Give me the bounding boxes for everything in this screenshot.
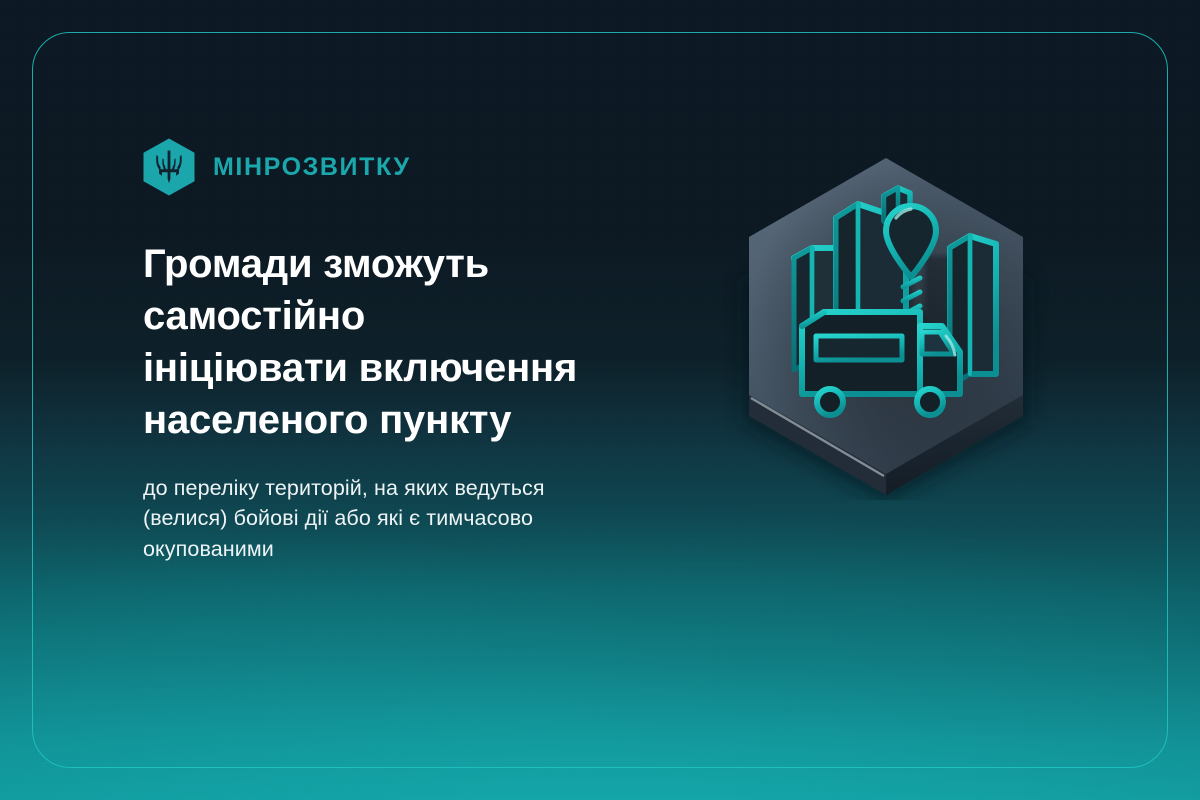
ukraine-trident-hexagon-icon xyxy=(143,138,195,196)
headline-line-3: населеного пункту xyxy=(143,394,688,446)
content-column: МІНРОЗВИТКУ Громади зможуть самостійно і… xyxy=(143,138,703,586)
subheadline-line-1: до переліку територій, на яких ведуться xyxy=(143,473,643,504)
headline-line-1: Громади зможуть самостійно xyxy=(143,238,688,342)
subheadline-line-2: (велися) бойові дії або які є тимчасово xyxy=(143,503,643,534)
brand-wordmark: МІНРОЗВИТКУ xyxy=(213,155,411,180)
headline-line-2: ініціювати включення xyxy=(143,342,688,394)
subheadline: до переліку територій, на яких ведуться … xyxy=(143,473,643,565)
brand-lockup: МІНРОЗВИТКУ xyxy=(143,138,703,196)
subheadline-line-3: окупованими xyxy=(143,534,643,565)
city-buildings-bus-map-pin-hexagon-badge xyxy=(706,140,1066,500)
announcement-card: МІНРОЗВИТКУ Громади зможуть самостійно і… xyxy=(0,0,1200,800)
headline: Громади зможуть самостійно ініціювати вк… xyxy=(143,238,688,446)
